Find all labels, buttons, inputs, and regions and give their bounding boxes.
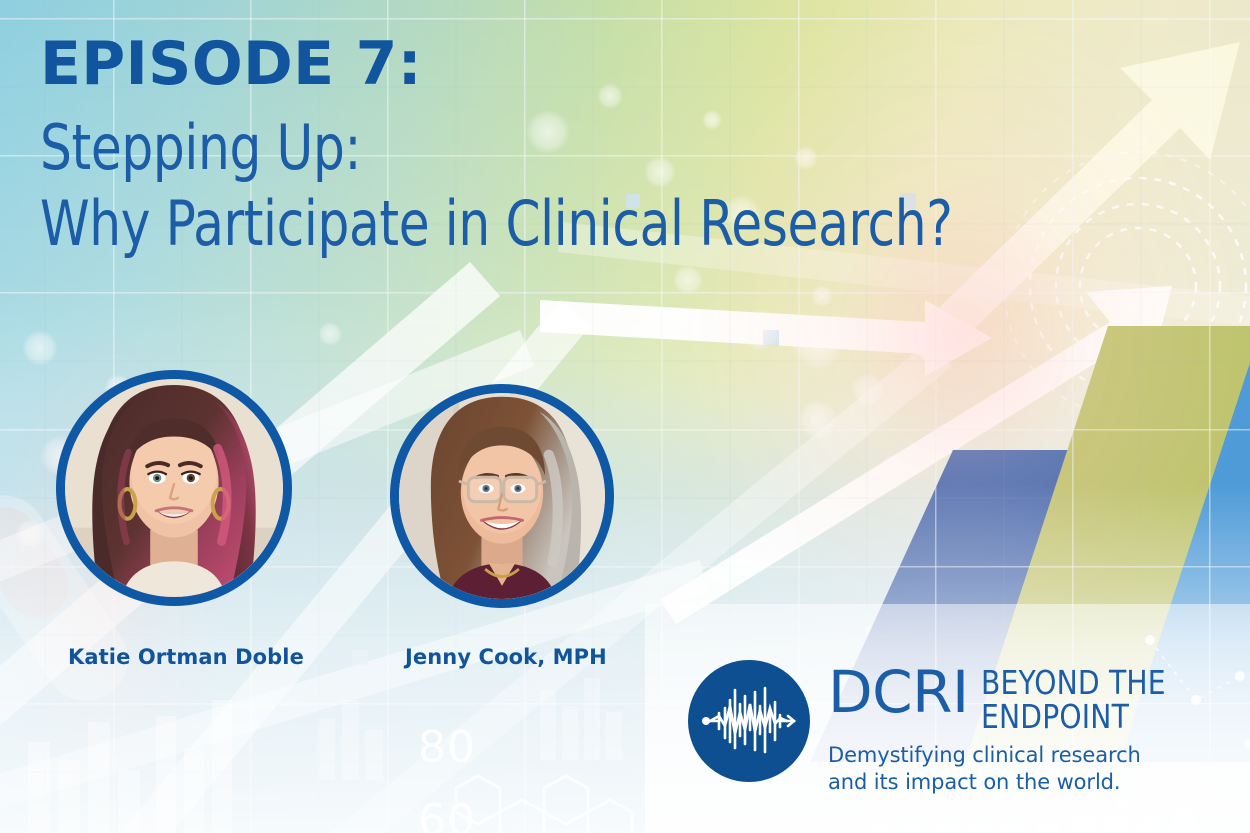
episode-title-line-2: Why Participate in Clinical Research?	[40, 186, 1102, 262]
tagline-line-1: Demystifying clinical research	[828, 743, 1141, 767]
wordmark-divider	[971, 666, 974, 734]
speaker-portrait-jenny-cook	[390, 384, 614, 608]
axis-tick-80: 80	[418, 722, 476, 773]
brand-tagline: Demystifying clinical research and its i…	[828, 742, 1175, 797]
axis-tick-60: 60	[418, 795, 476, 833]
speaker-name-2: Jenny Cook, MPH	[405, 645, 607, 669]
audio-waveform-arrow-icon	[688, 660, 810, 782]
episode-number-label: EPISODE 7:	[40, 34, 1220, 94]
hexagon-molecule-icon	[456, 776, 632, 833]
tagline-line-2: and its impact on the world.	[828, 770, 1120, 794]
logo-text-block: DCRI BEYOND THE ENDPOINT Demystifying cl…	[828, 660, 1175, 797]
podcast-episode-artwork: EPISODE 7: Stepping Up: Why Participate …	[0, 0, 1250, 833]
show-name: BEYOND THE ENDPOINT	[981, 666, 1166, 734]
dcri-wordmark: DCRI	[828, 666, 969, 719]
speaker-portrait-katie-ortman-doble	[56, 370, 292, 606]
episode-title-block: EPISODE 7: Stepping Up: Why Participate …	[40, 34, 1220, 261]
show-name-line-2: ENDPOINT	[981, 697, 1129, 736]
dcri-logo-lockup: DCRI BEYOND THE ENDPOINT Demystifying cl…	[688, 660, 1175, 797]
episode-title-line-1: Stepping Up:	[40, 110, 1102, 186]
speaker-name-1: Katie Ortman Doble	[68, 645, 304, 669]
